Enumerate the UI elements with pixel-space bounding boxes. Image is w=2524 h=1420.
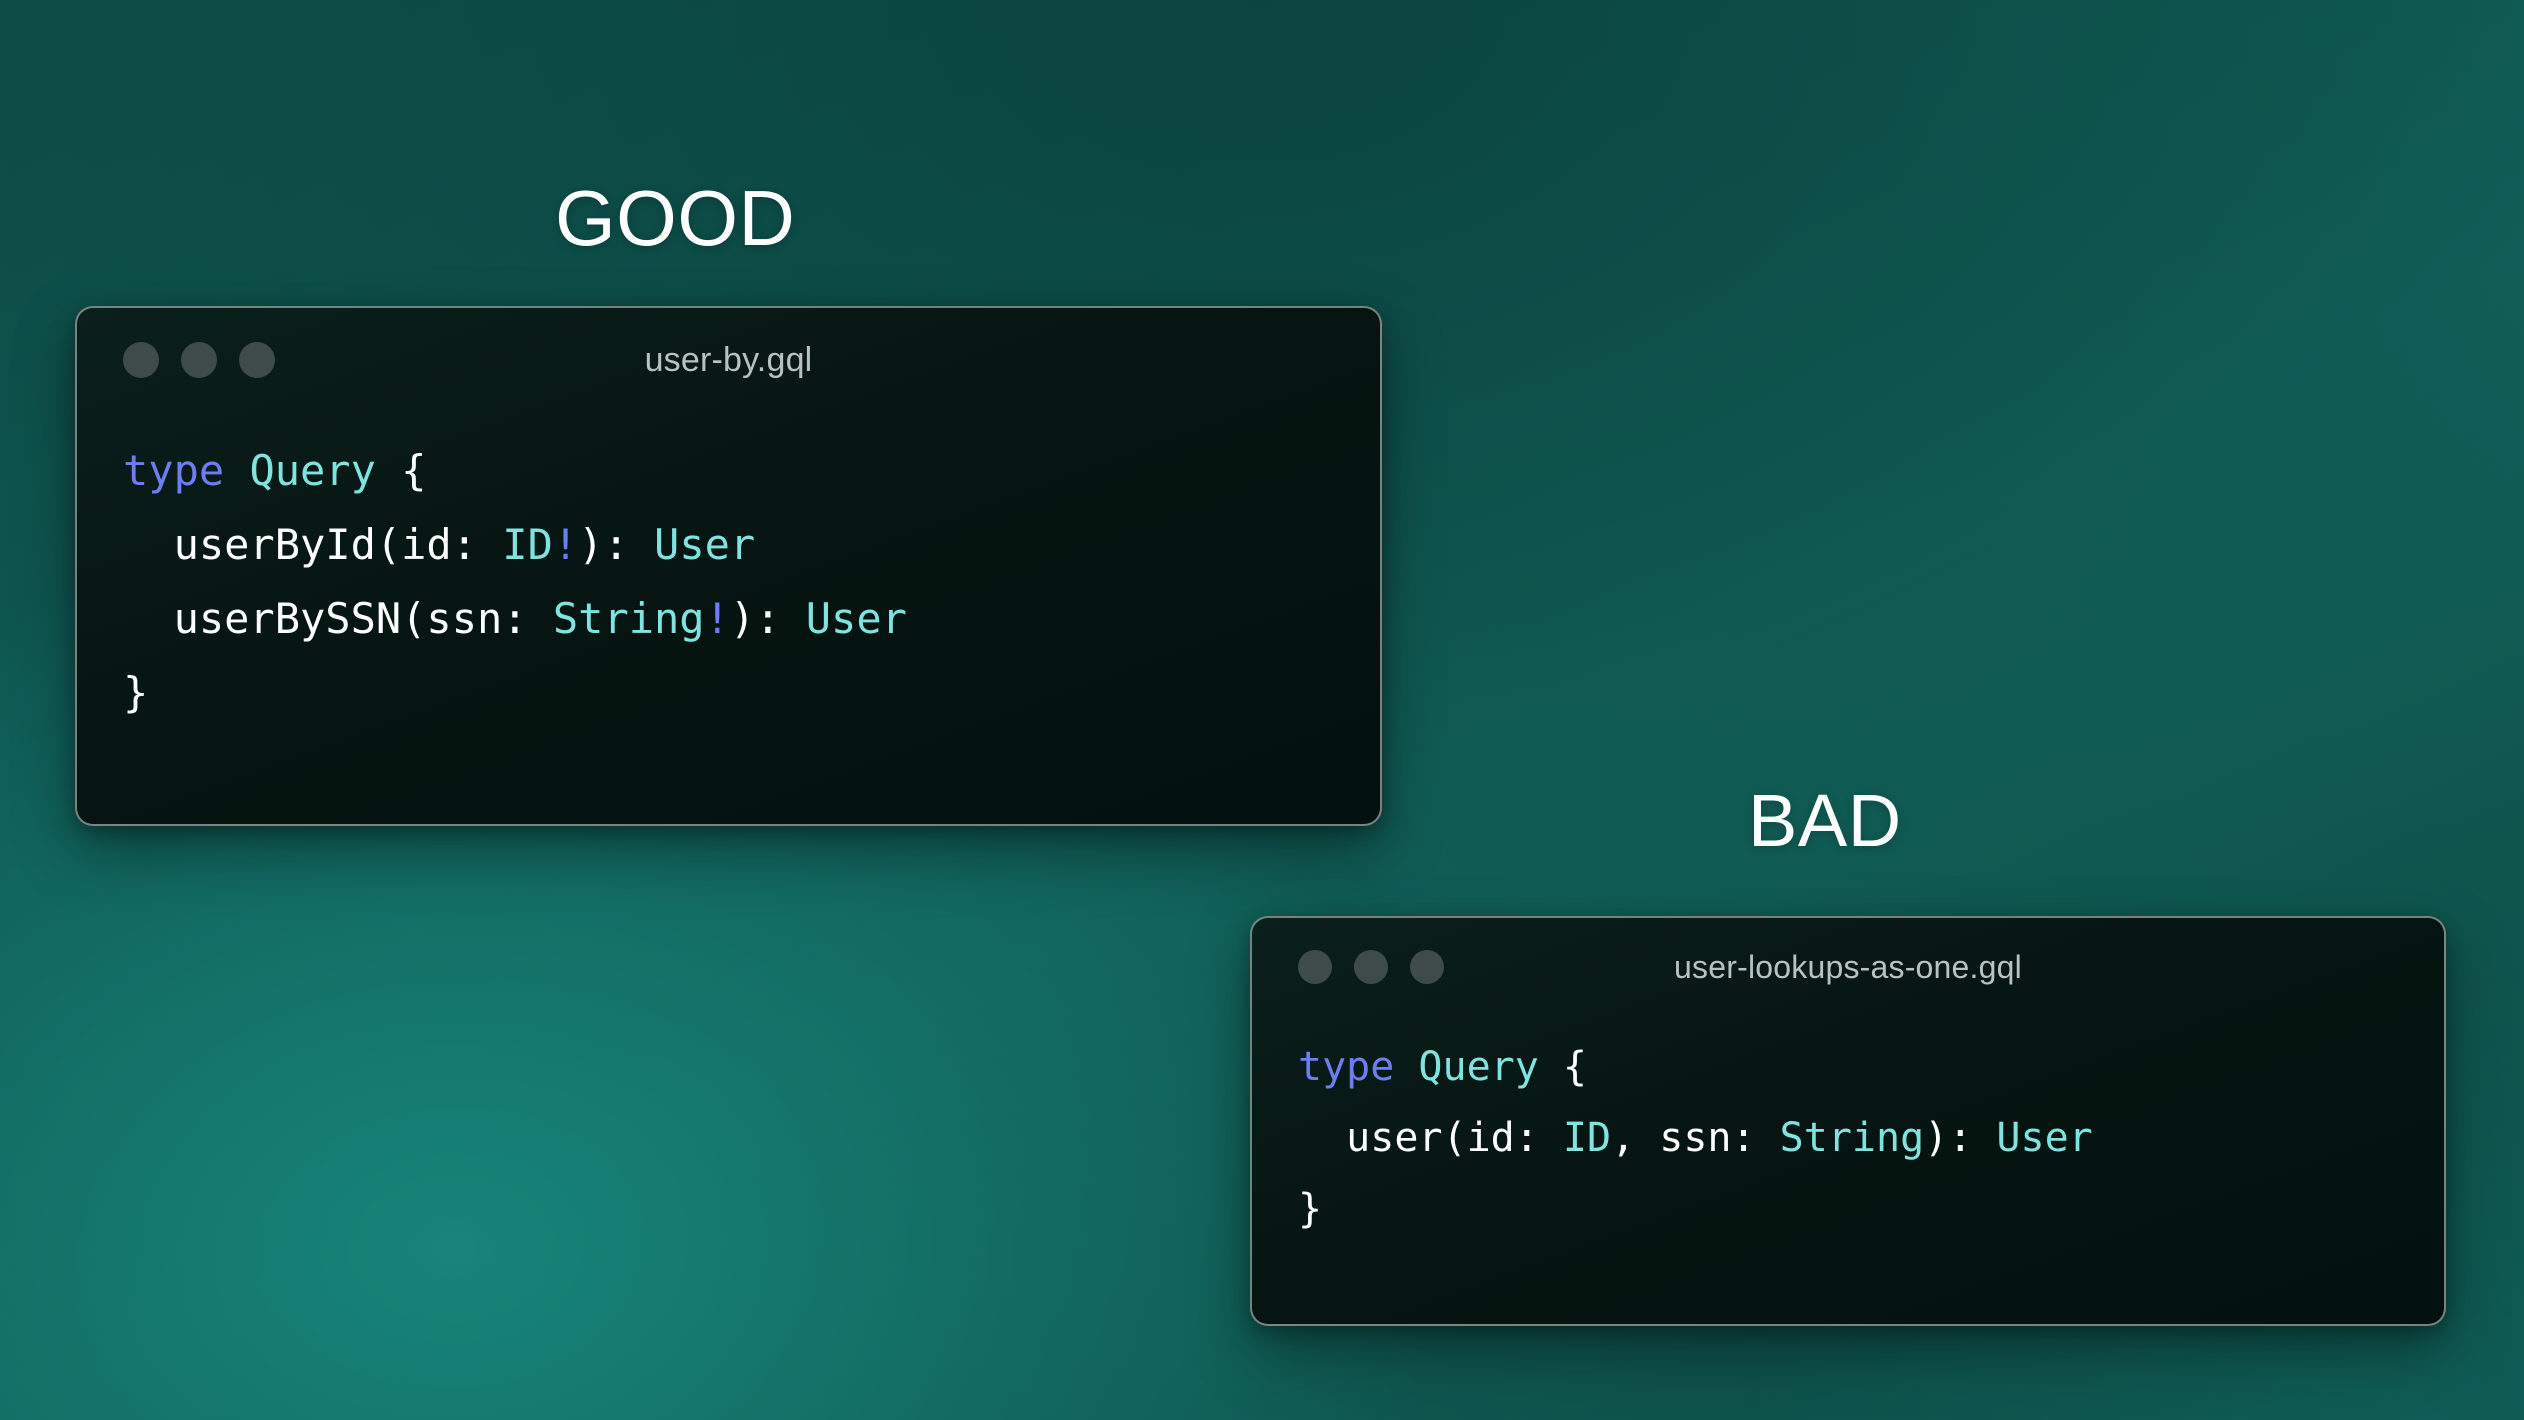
code-token-bang: ! xyxy=(705,594,730,643)
section-label-good: GOOD xyxy=(555,175,795,261)
code-token-kw: type xyxy=(1298,1044,1394,1090)
code-line: user(id: ID, ssn: String): User xyxy=(1298,1103,2398,1174)
code-window-good: user-by.gql type Query { userById(id: ID… xyxy=(75,306,1382,826)
minimize-dot-icon[interactable] xyxy=(181,342,217,378)
code-token-type: Query xyxy=(1418,1044,1538,1090)
code-token-punct: ) xyxy=(578,520,603,569)
code-token-punct: : xyxy=(603,520,654,569)
maximize-dot-icon[interactable] xyxy=(1410,950,1444,984)
code-token-punct: } xyxy=(123,668,148,717)
code-token-type: User xyxy=(654,520,755,569)
code-token-punct: : xyxy=(1948,1115,1996,1161)
titlebar-good: user-by.gql xyxy=(77,308,1380,412)
titlebar-bad: user-lookups-as-one.gql xyxy=(1252,918,2444,1016)
traffic-lights-bad xyxy=(1298,950,1444,984)
code-token-type: ID xyxy=(1563,1115,1611,1161)
code-window-bad: user-lookups-as-one.gql type Query { use… xyxy=(1250,916,2446,1326)
code-line: } xyxy=(1298,1174,2398,1245)
code-line: } xyxy=(123,656,1334,730)
code-token-bang: ! xyxy=(553,520,578,569)
minimize-dot-icon[interactable] xyxy=(1354,950,1388,984)
slide-canvas: GOOD user-by.gql type Query { userById(i… xyxy=(0,0,2524,1420)
code-line: userById(id: ID!): User xyxy=(123,508,1334,582)
code-token-plain: userBySSN(ssn: xyxy=(123,594,553,643)
close-dot-icon[interactable] xyxy=(123,342,159,378)
traffic-lights-good xyxy=(123,342,275,378)
code-token-punct: } xyxy=(1298,1186,1322,1232)
code-token-plain: user(id: xyxy=(1298,1115,1563,1161)
code-token-punct: ) xyxy=(1924,1115,1948,1161)
code-token-kw: type xyxy=(123,446,224,495)
code-block-bad: type Query { user(id: ID, ssn: String): … xyxy=(1252,1016,2444,1281)
maximize-dot-icon[interactable] xyxy=(239,342,275,378)
code-token-plain: userById(id: xyxy=(123,520,502,569)
code-token-plain xyxy=(1394,1044,1418,1090)
code-token-punct: : xyxy=(755,594,806,643)
section-label-bad: BAD xyxy=(1748,780,1902,862)
code-line: type Query { xyxy=(1298,1032,2398,1103)
code-token-punct: { xyxy=(376,446,427,495)
code-token-punct: ) xyxy=(730,594,755,643)
code-line: type Query { xyxy=(123,434,1334,508)
code-token-type: String xyxy=(553,594,705,643)
code-token-type: User xyxy=(806,594,907,643)
code-token-type: User xyxy=(1996,1115,2092,1161)
code-token-type: ID xyxy=(502,520,553,569)
code-token-plain: , ssn: xyxy=(1611,1115,1780,1161)
code-token-type: Query xyxy=(249,446,375,495)
code-line: userBySSN(ssn: String!): User xyxy=(123,582,1334,656)
code-block-good: type Query { userById(id: ID!): User use… xyxy=(77,412,1380,770)
code-token-plain xyxy=(224,446,249,495)
close-dot-icon[interactable] xyxy=(1298,950,1332,984)
code-token-punct: { xyxy=(1539,1044,1587,1090)
code-token-type: String xyxy=(1780,1115,1925,1161)
